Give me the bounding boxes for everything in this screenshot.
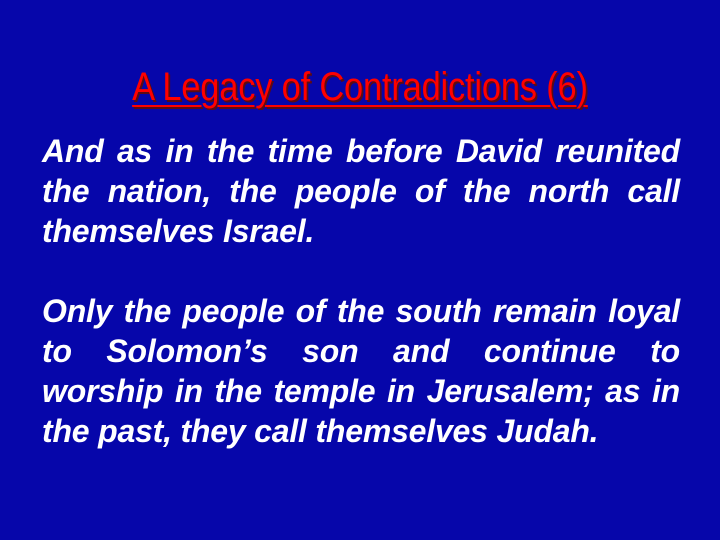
paragraph-spacer: [42, 251, 680, 291]
slide-body-container: And as in the time before David reunited…: [42, 131, 680, 451]
slide-title-container: A Legacy of Contradictions (6): [0, 38, 720, 136]
body-paragraph-south: Only the people of the south remain loya…: [42, 291, 680, 451]
page-title: A Legacy of Contradictions (6): [132, 65, 588, 109]
presentation-slide: A Legacy of Contradictions (6) And as in…: [0, 0, 720, 540]
body-paragraph-north: And as in the time before David reunited…: [42, 131, 680, 251]
